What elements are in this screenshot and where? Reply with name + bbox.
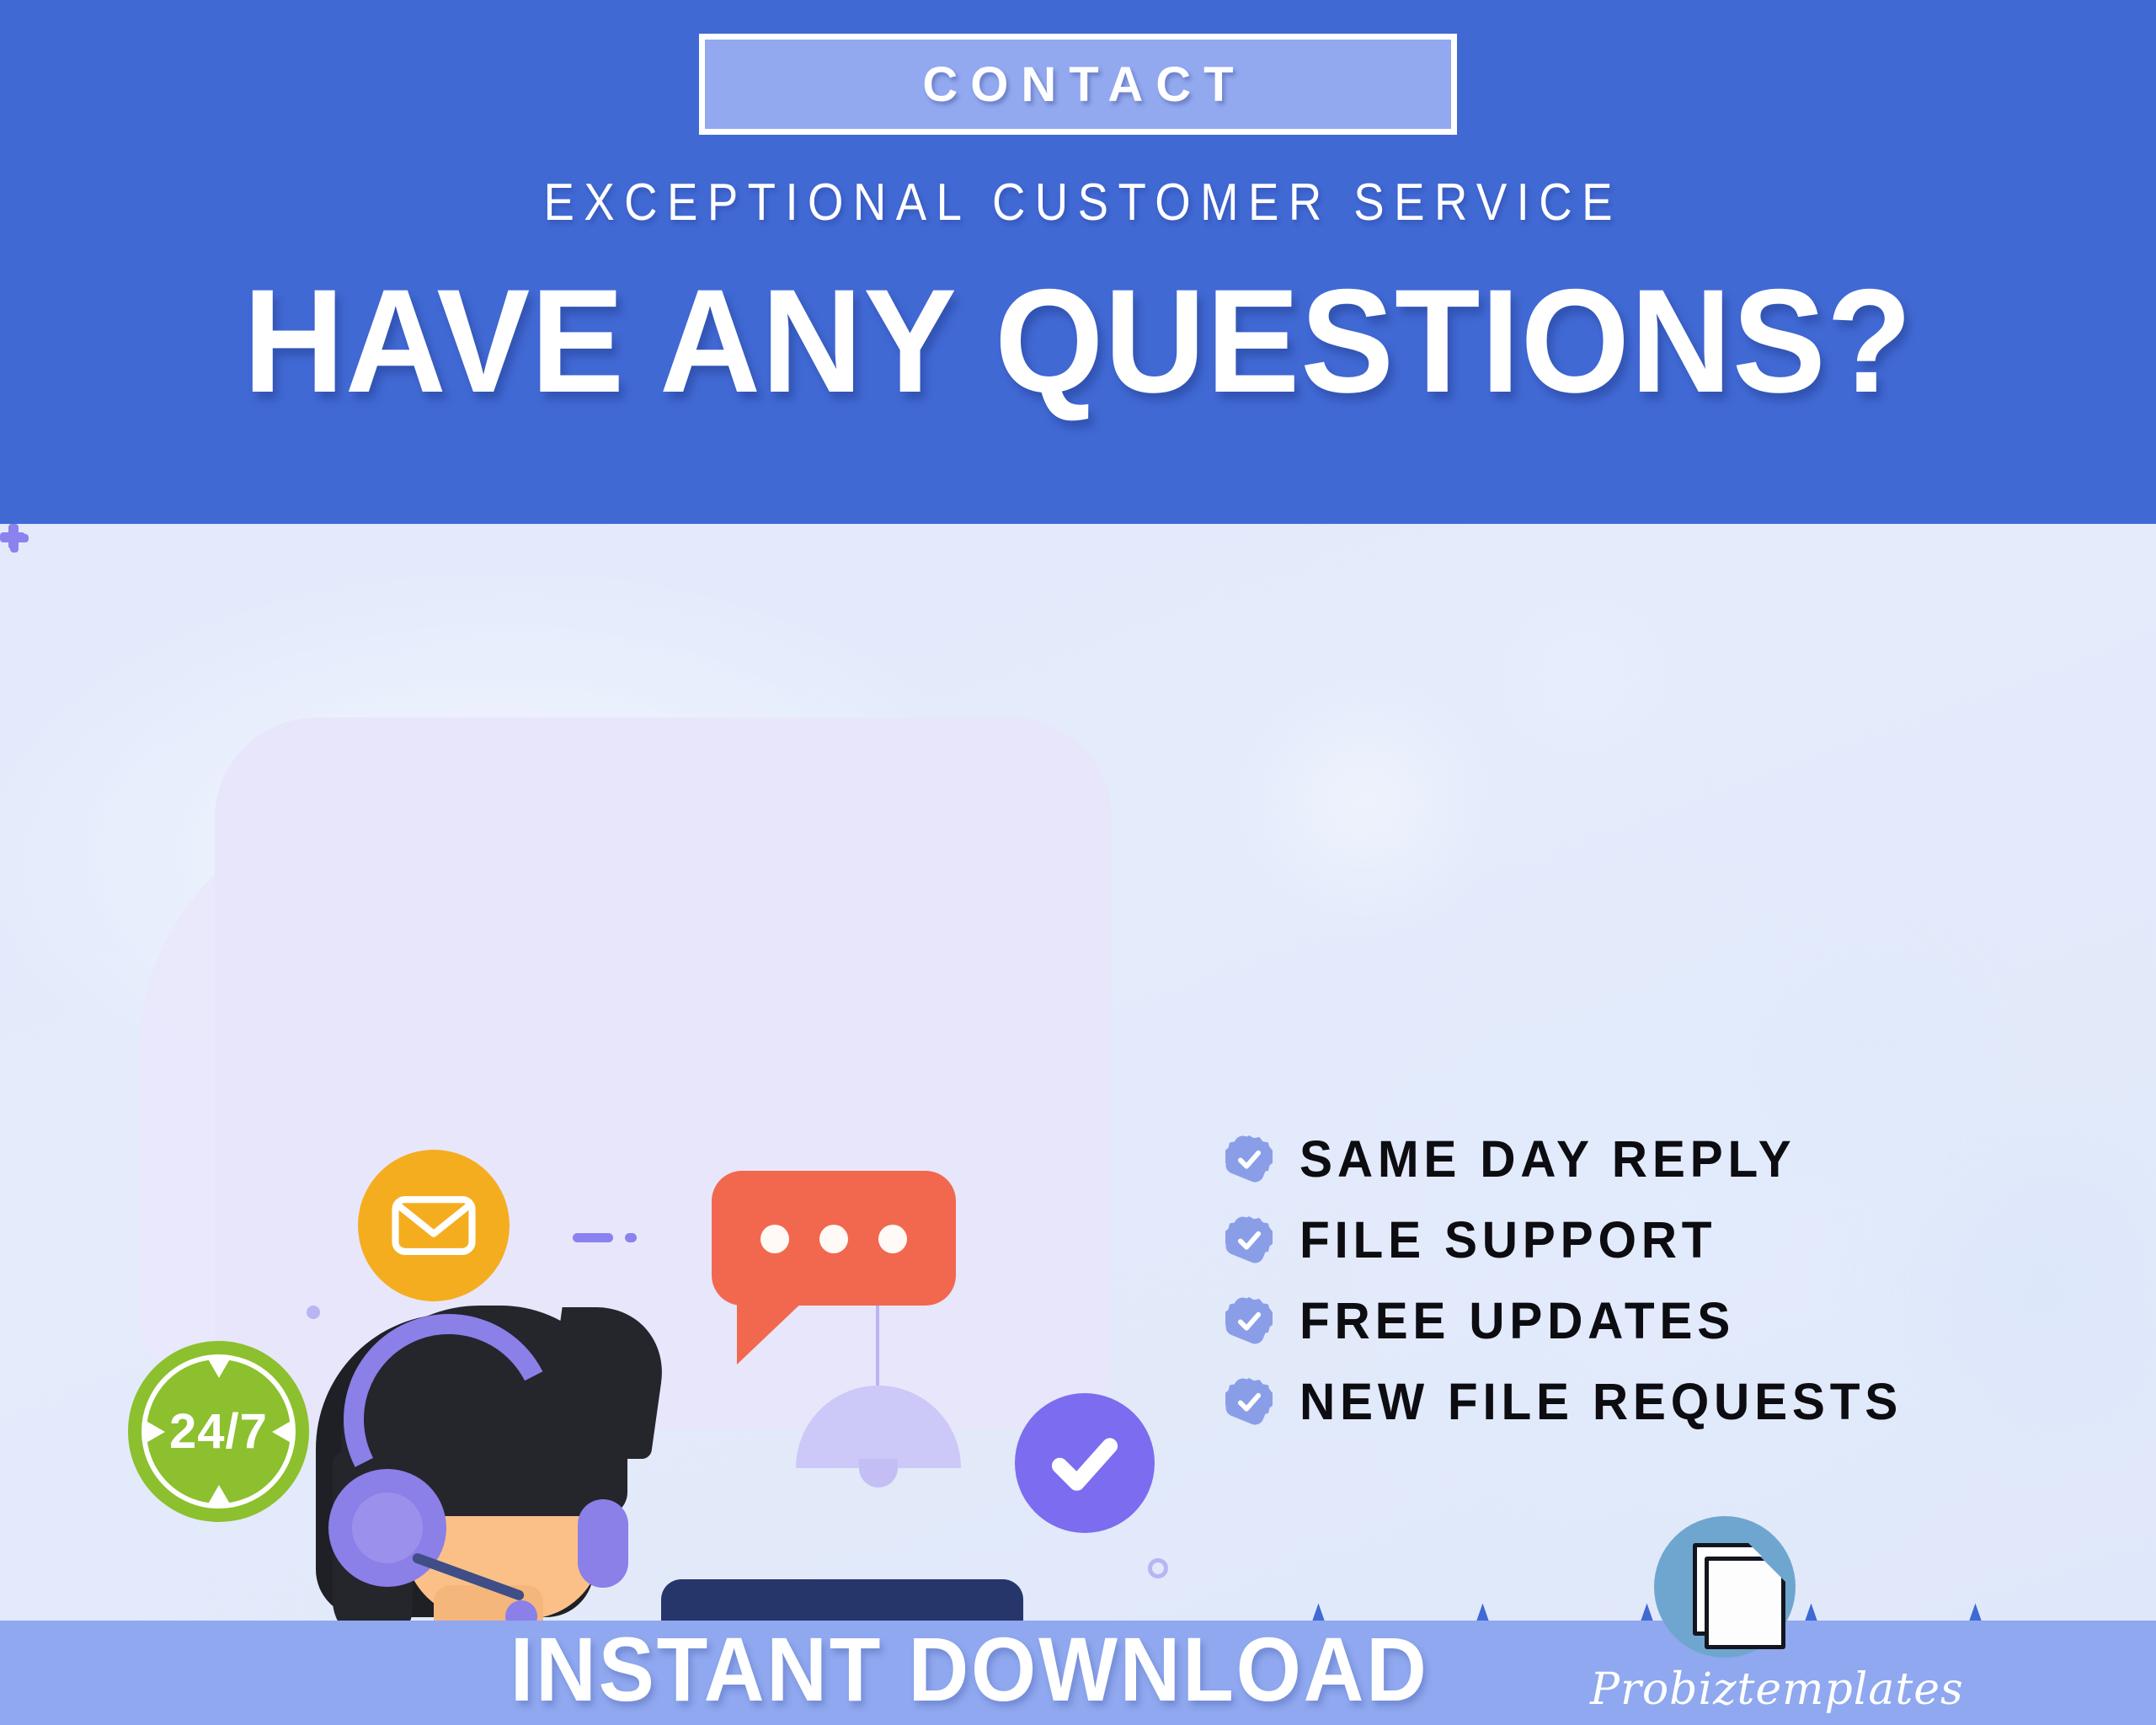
headset-earcup-inner [352, 1493, 423, 1563]
typing-dot [819, 1225, 848, 1253]
customer-support-illustration: 24/7 [0, 524, 1179, 1621]
check-circle-icon [1015, 1393, 1155, 1533]
clock-tick-icon [206, 1356, 232, 1378]
headset-earcup-far [578, 1499, 628, 1588]
list-item: SAME DAY REPLY [1225, 1129, 2068, 1189]
contact-badge: CONTACT [699, 34, 1457, 135]
brand-logo: Probiztemplates [1590, 1516, 1860, 1725]
contact-badge-label: CONTACT [910, 56, 1246, 113]
contact-poster: CONTACT EXCEPTIONAL CUSTOMER SERVICE HAV… [0, 0, 2156, 1725]
documents-icon-front [1705, 1557, 1785, 1649]
header-banner: CONTACT EXCEPTIONAL CUSTOMER SERVICE HAV… [0, 0, 2156, 524]
support-agent-figure [253, 1282, 859, 1621]
clock-tick-icon [143, 1419, 165, 1445]
ring-decoration-icon [1148, 1558, 1168, 1578]
check-badge-icon [1225, 1135, 1273, 1183]
feature-label: SAME DAY REPLY [1299, 1130, 1796, 1188]
list-item: FILE SUPPORT [1225, 1210, 2068, 1270]
dot-decoration-icon [625, 1233, 637, 1242]
typing-dot [878, 1225, 907, 1253]
feature-label: FILE SUPPORT [1299, 1210, 1716, 1269]
feature-list: SAME DAY REPLY FILE SUPPORT [1225, 1129, 2068, 1452]
check-badge-icon [1225, 1297, 1273, 1344]
monitor-icon [661, 1579, 1023, 1621]
page-title: HAVE ANY QUESTIONS? [54, 268, 2102, 415]
envelope-icon [358, 1150, 510, 1301]
twentyfour-seven-label: 24/7 [169, 1403, 268, 1460]
list-item: FREE UPDATES [1225, 1290, 2068, 1351]
body-area: 24/7 [0, 524, 2156, 1621]
list-item: NEW FILE REQUESTS [1225, 1371, 2068, 1432]
dash-decoration-icon [573, 1233, 613, 1242]
plus-decoration-icon [0, 553, 25, 578]
feature-label: NEW FILE REQUESTS [1299, 1372, 1903, 1431]
header-subtitle: EXCEPTIONAL CUSTOMER SERVICE [130, 173, 2027, 232]
lamp-cord [876, 1299, 879, 1387]
feature-label: FREE UPDATES [1299, 1291, 1735, 1350]
brand-name: Probiztemplates [1590, 1664, 1860, 1715]
hair-swoop [541, 1307, 671, 1459]
typing-dot [760, 1225, 789, 1253]
lamp-bulb-icon [859, 1459, 898, 1487]
check-badge-icon [1225, 1216, 1273, 1263]
clock-tick-icon [206, 1485, 232, 1507]
check-badge-icon [1225, 1378, 1273, 1425]
